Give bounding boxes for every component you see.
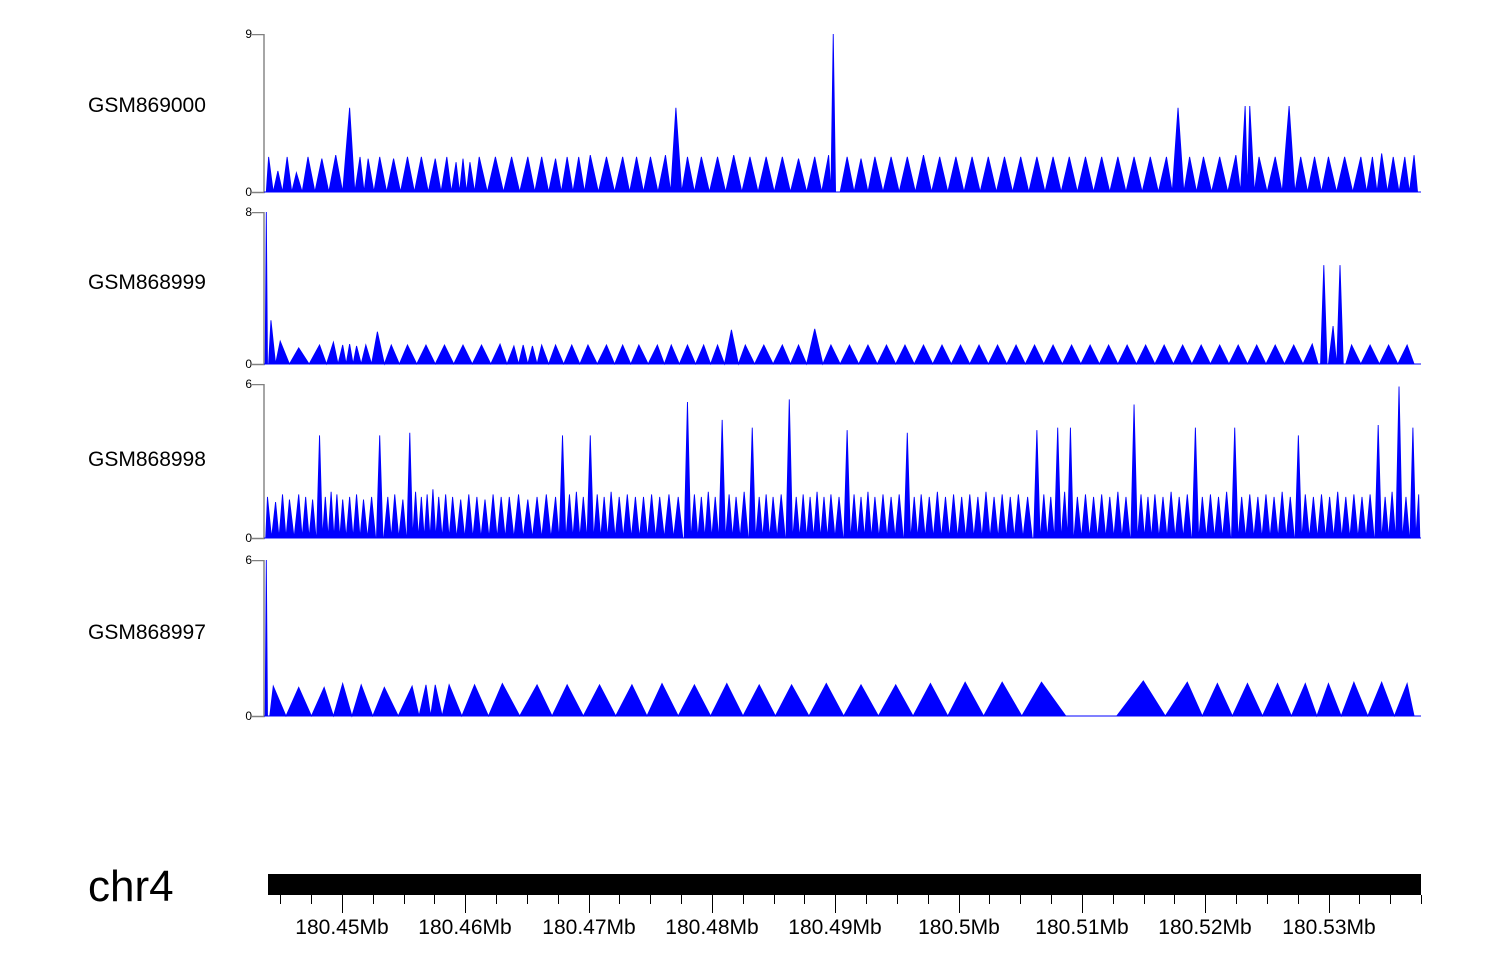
track-plot-area bbox=[252, 560, 1421, 718]
axis-minor-tick bbox=[434, 895, 435, 904]
track-sample-label: GSM868997 bbox=[88, 621, 206, 645]
chromosome-axis-area: chr4 180.45Mb180.46Mb180.47Mb180.48Mb180… bbox=[0, 0, 1500, 980]
axis-minor-tick bbox=[1113, 895, 1114, 904]
track-plot-area bbox=[252, 34, 1421, 194]
axis-minor-tick bbox=[311, 895, 312, 904]
y-axis-spine bbox=[252, 385, 264, 539]
axis-minor-tick bbox=[1174, 895, 1175, 904]
axis-minor-tick bbox=[1298, 895, 1299, 904]
axis-minor-tick bbox=[1144, 895, 1145, 904]
track-plot-area bbox=[252, 212, 1421, 366]
genome-browser-figure: GSM86900009GSM86899908GSM86899806GSM8689… bbox=[0, 0, 1500, 980]
coverage-track: GSM86899706 bbox=[0, 0, 1500, 980]
track-sample-label: GSM868998 bbox=[88, 448, 206, 472]
axis-major-tick bbox=[342, 895, 343, 913]
coverage-area bbox=[264, 387, 1421, 538]
axis-minor-tick bbox=[619, 895, 620, 904]
axis-tick-label: 180.46Mb bbox=[418, 916, 511, 940]
coverage-track: GSM86899806 bbox=[0, 0, 1500, 980]
axis-tick-label: 180.49Mb bbox=[788, 916, 881, 940]
axis-minor-tick bbox=[989, 895, 990, 904]
axis-minor-tick bbox=[496, 895, 497, 904]
axis-tick-label: 180.5Mb bbox=[918, 916, 1000, 940]
axis-minor-tick bbox=[928, 895, 929, 904]
axis-major-tick bbox=[465, 895, 466, 913]
axis-tick-label: 180.52Mb bbox=[1158, 916, 1251, 940]
chromosome-name-label: chr4 bbox=[88, 862, 174, 912]
axis-minor-tick bbox=[774, 895, 775, 904]
axis-major-tick bbox=[1082, 895, 1083, 913]
axis-minor-tick bbox=[527, 895, 528, 904]
axis-minor-tick bbox=[866, 895, 867, 904]
axis-minor-tick bbox=[1051, 895, 1052, 904]
y-axis-min-label: 0 bbox=[228, 358, 252, 370]
axis-minor-tick bbox=[1359, 895, 1360, 904]
y-axis-min-label: 0 bbox=[228, 186, 252, 198]
axis-minor-tick bbox=[558, 895, 559, 904]
axis-major-tick bbox=[1329, 895, 1330, 913]
axis-minor-tick bbox=[280, 895, 281, 904]
axis-minor-tick bbox=[897, 895, 898, 904]
coverage-track: GSM86900009 bbox=[0, 0, 1500, 980]
axis-major-tick bbox=[589, 895, 590, 913]
chromosome-ideogram-bar bbox=[268, 874, 1421, 895]
axis-minor-tick bbox=[1236, 895, 1237, 904]
axis-minor-tick bbox=[373, 895, 374, 904]
axis-major-tick bbox=[712, 895, 713, 913]
axis-major-tick bbox=[1205, 895, 1206, 913]
axis-minor-tick bbox=[1020, 895, 1021, 904]
axis-tick-label: 180.45Mb bbox=[295, 916, 388, 940]
axis-major-tick bbox=[835, 895, 836, 913]
axis-minor-tick bbox=[1267, 895, 1268, 904]
y-axis-min-label: 0 bbox=[228, 710, 252, 722]
track-sample-label: GSM869000 bbox=[88, 94, 206, 118]
y-axis-max-label: 9 bbox=[228, 28, 252, 40]
axis-minor-tick bbox=[404, 895, 405, 904]
coverage-area bbox=[264, 212, 1421, 364]
coverage-area bbox=[264, 34, 1421, 192]
axis-tick-label: 180.47Mb bbox=[542, 916, 635, 940]
y-axis-spine bbox=[252, 561, 264, 717]
axis-minor-tick bbox=[650, 895, 651, 904]
axis-minor-tick bbox=[681, 895, 682, 904]
axis-tick-label: 180.53Mb bbox=[1282, 916, 1375, 940]
y-axis-spine bbox=[252, 35, 264, 193]
track-sample-label: GSM868999 bbox=[88, 271, 206, 295]
y-axis-max-label: 8 bbox=[228, 206, 252, 218]
axis-minor-tick bbox=[1390, 895, 1391, 904]
axis-tick-label: 180.48Mb bbox=[665, 916, 758, 940]
coverage-area bbox=[264, 560, 1421, 716]
y-axis-max-label: 6 bbox=[228, 378, 252, 390]
axis-major-tick bbox=[959, 895, 960, 913]
axis-minor-tick bbox=[743, 895, 744, 904]
track-plot-area bbox=[252, 384, 1421, 540]
y-axis-max-label: 6 bbox=[228, 554, 252, 566]
axis-tick-label: 180.51Mb bbox=[1035, 916, 1128, 940]
axis-minor-tick bbox=[804, 895, 805, 904]
axis-minor-tick bbox=[1421, 895, 1422, 904]
y-axis-min-label: 0 bbox=[228, 532, 252, 544]
coverage-track: GSM86899908 bbox=[0, 0, 1500, 980]
y-axis-spine bbox=[252, 213, 264, 365]
